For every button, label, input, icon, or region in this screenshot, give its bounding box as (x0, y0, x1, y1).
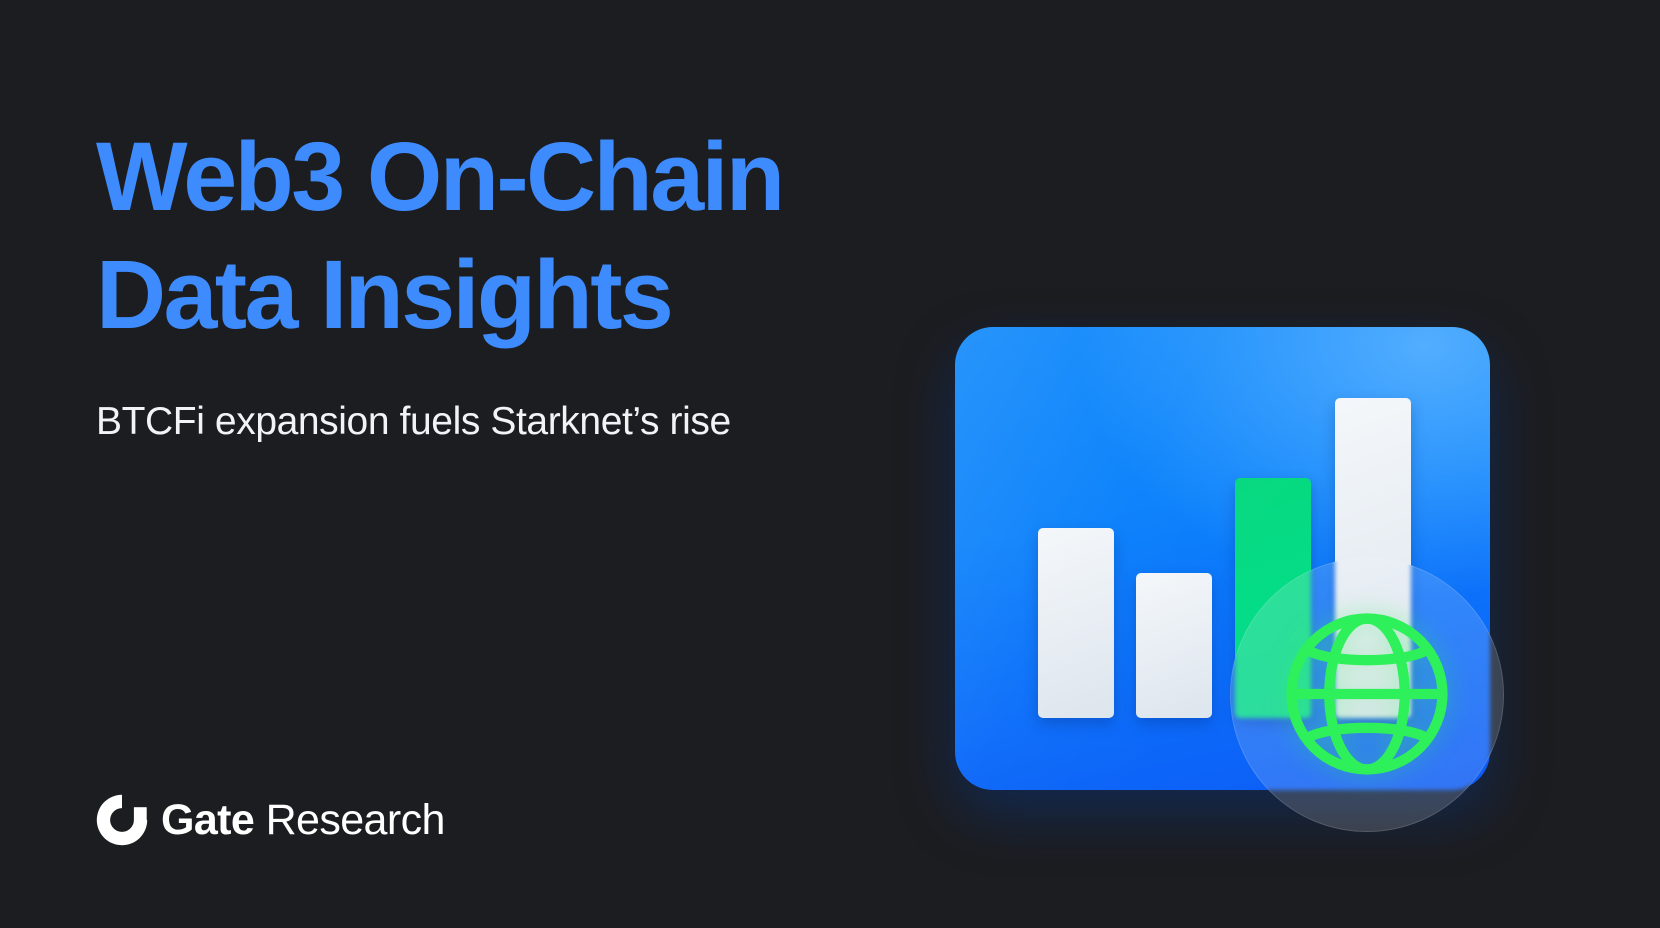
brand-name: Gate Research (161, 799, 445, 842)
brand-name-gate: Gate (161, 796, 254, 844)
banner-root: Web3 On-Chain Data Insights BTCFi expans… (0, 0, 1660, 928)
gate-logo-icon (96, 794, 148, 846)
page-title: Web3 On-Chain Data Insights (96, 118, 886, 355)
page-subtitle: BTCFi expansion fuels Starknet’s rise (96, 355, 886, 448)
globe-icon (1275, 602, 1459, 786)
chart-bar-2 (1136, 573, 1212, 718)
chart-bar-1 (1038, 528, 1114, 718)
brand-lockup: Gate Research (96, 794, 445, 846)
copy-block: Web3 On-Chain Data Insights BTCFi expans… (96, 118, 886, 447)
brand-name-research: Research (266, 796, 445, 844)
hero-illustration (900, 300, 1520, 860)
